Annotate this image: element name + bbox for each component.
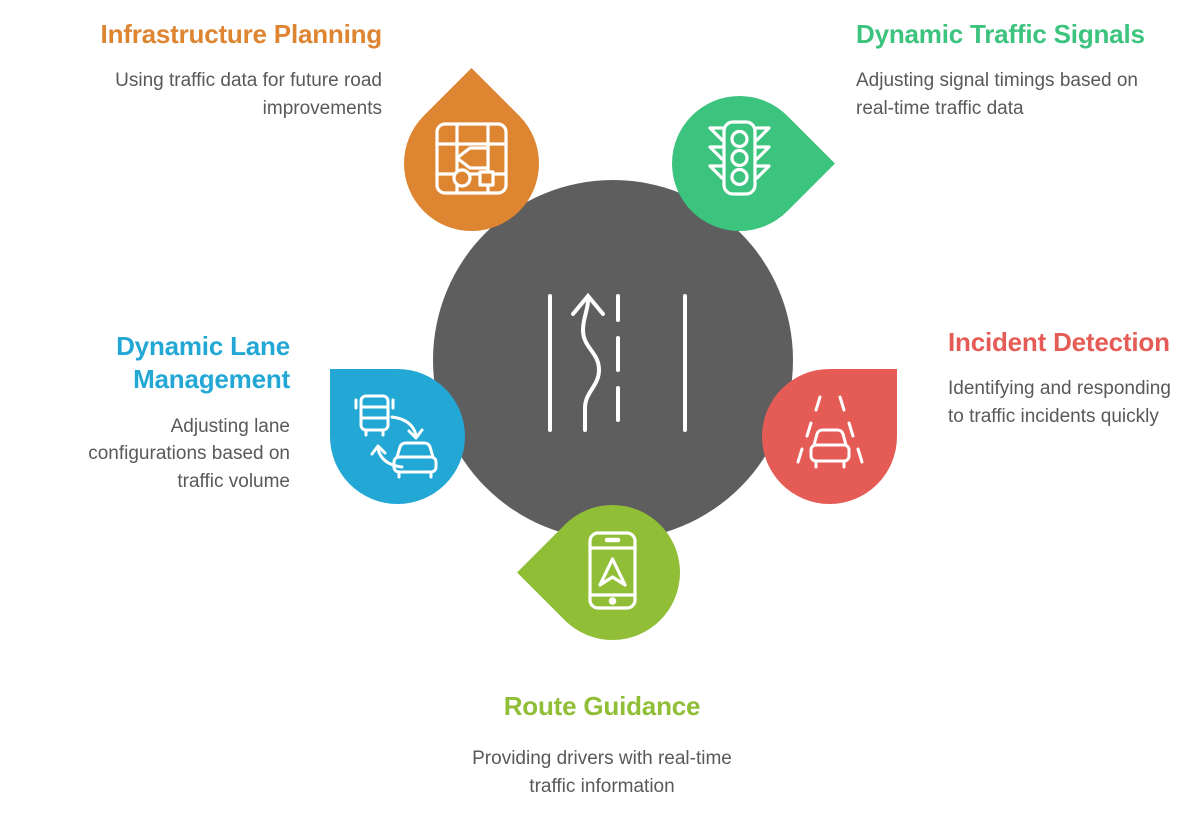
node-pin-dynamic-traffic-signals[interactable] (672, 96, 807, 231)
node-label-route-guidance: Route Guidance Providing drivers with re… (452, 690, 752, 800)
node-title-dynamic-lane-management: Dynamic Lane Management (72, 330, 290, 397)
node-title-incident-detection: Incident Detection (948, 326, 1178, 359)
node-label-dynamic-traffic-signals: Dynamic Traffic Signals Adjusting signal… (856, 18, 1146, 122)
node-title-infrastructure-planning: Infrastructure Planning (100, 18, 382, 51)
node-pin-infrastructure-planning[interactable] (404, 96, 539, 231)
street-grid-map-icon (404, 96, 539, 231)
node-label-incident-detection: Incident Detection Identifying and respo… (948, 326, 1178, 430)
smartphone-navigation-icon (545, 505, 680, 640)
node-label-dynamic-lane-management: Dynamic Lane Management Adjusting lane c… (72, 330, 290, 495)
node-title-route-guidance: Route Guidance (452, 690, 752, 723)
node-description-infrastructure-planning: Using traffic data for future road impro… (100, 67, 382, 122)
node-description-incident-detection: Identifying and responding to traffic in… (948, 375, 1178, 430)
node-title-dynamic-traffic-signals: Dynamic Traffic Signals (856, 18, 1146, 51)
node-pin-dynamic-lane-management[interactable] (330, 369, 465, 504)
node-pin-incident-detection[interactable] (762, 369, 897, 504)
node-description-route-guidance: Providing drivers with real-time traffic… (452, 745, 752, 800)
node-description-dynamic-traffic-signals: Adjusting signal timings based on real-t… (856, 67, 1146, 122)
node-label-infrastructure-planning: Infrastructure Planning Using traffic da… (100, 18, 382, 122)
car-on-road-icon (762, 369, 897, 504)
central-hub (433, 180, 793, 540)
infographic-canvas: Infrastructure Planning Using traffic da… (0, 0, 1200, 833)
node-pin-route-guidance[interactable] (545, 505, 680, 640)
traffic-light-icon (672, 96, 807, 231)
node-description-dynamic-lane-management: Adjusting lane configurations based on t… (72, 413, 290, 496)
bus-car-swap-arrows-icon (330, 369, 465, 504)
road-graphic-icon (433, 180, 793, 540)
